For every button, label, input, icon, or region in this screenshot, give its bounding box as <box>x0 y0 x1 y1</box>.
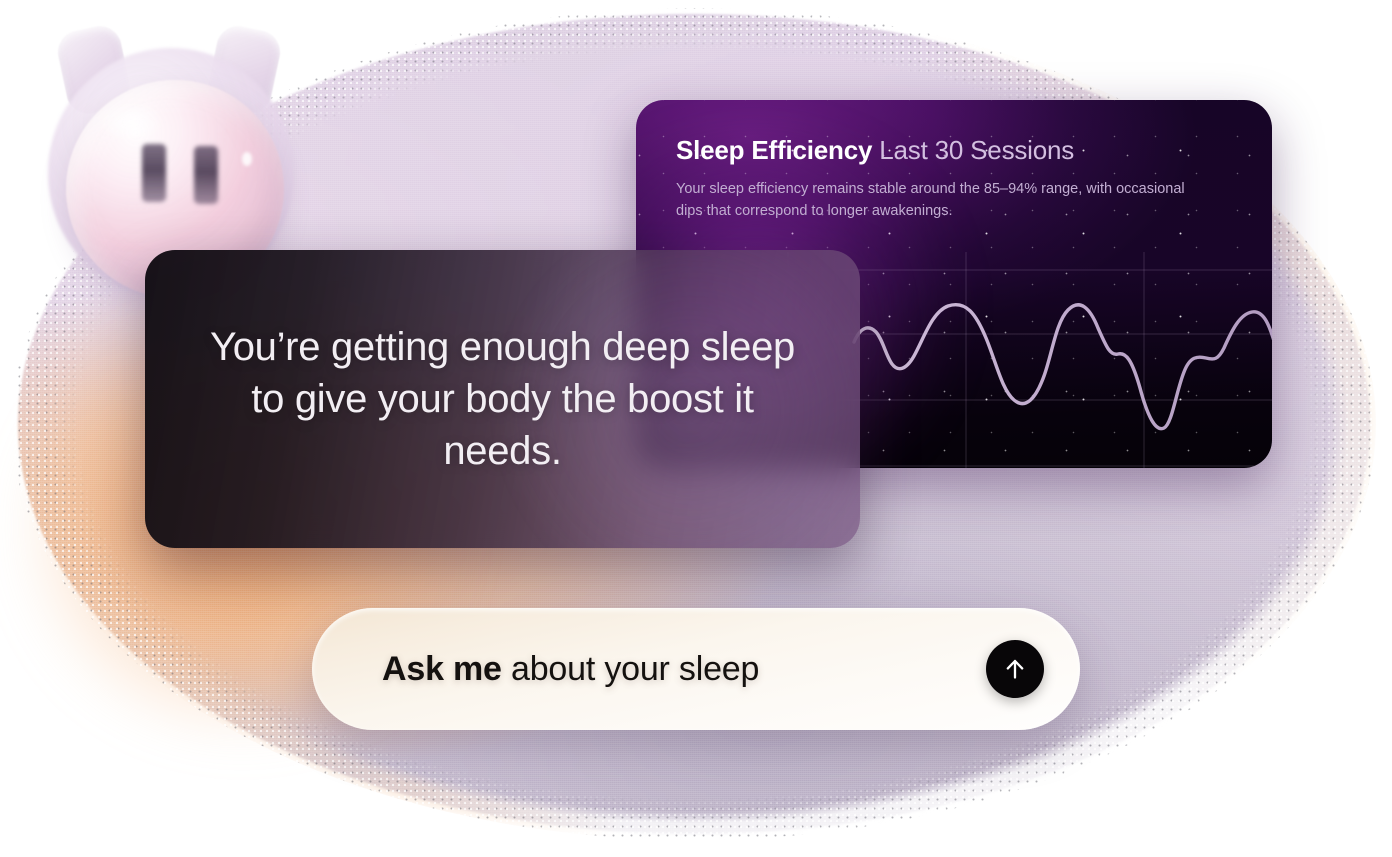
ask-input-placeholder[interactable]: Ask me about your sleep <box>382 650 986 689</box>
card-header: Sleep Efficiency Last 30 Sessions Your s… <box>676 136 1238 222</box>
assistant-message-bubble: You’re getting enough deep sleep to give… <box>145 250 860 548</box>
card-description: Your sleep efficiency remains stable aro… <box>676 178 1196 222</box>
card-title-light: Last 30 Sessions <box>879 135 1074 165</box>
arrow-up-icon <box>1002 656 1028 682</box>
avatar-face-highlight <box>98 102 164 142</box>
send-button[interactable] <box>986 640 1044 698</box>
avatar-eye-left-icon <box>142 144 166 202</box>
assistant-message-text: You’re getting enough deep sleep to give… <box>145 321 860 477</box>
card-title-strong: Sleep Efficiency <box>676 135 872 165</box>
avatar-glint <box>242 152 252 166</box>
chart-line-series <box>854 305 1272 429</box>
ask-prompt-light: about your sleep <box>502 650 759 688</box>
card-title: Sleep Efficiency Last 30 Sessions <box>676 136 1238 166</box>
avatar-eye-right-icon <box>194 146 218 204</box>
ask-prompt-strong: Ask me <box>382 650 502 688</box>
ask-input-bar[interactable]: Ask me about your sleep <box>312 608 1080 730</box>
app-stage: Sleep Efficiency Last 30 Sessions Your s… <box>0 0 1392 857</box>
